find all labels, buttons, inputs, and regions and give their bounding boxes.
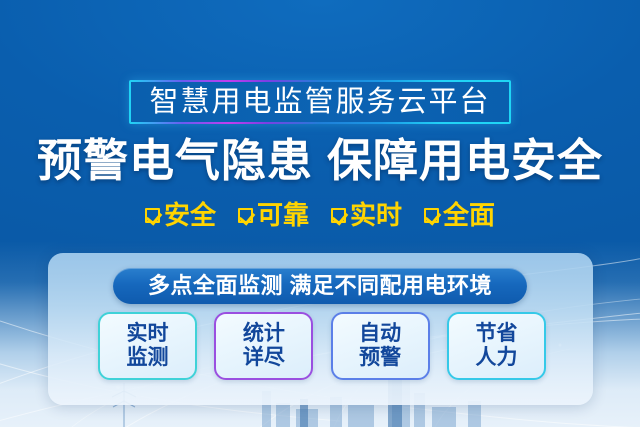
title-chip-inner: 智慧用电监管服务云平台 (131, 82, 509, 122)
feature-card-line1: 实时 (127, 322, 169, 346)
title-chip-text: 智慧用电监管服务云平台 (149, 88, 490, 117)
headline-part1: 预警电气隐患 (37, 138, 313, 183)
feature-card[interactable]: 统计 详尽 (214, 312, 313, 380)
headline-part2: 保障用电安全 (327, 138, 603, 183)
checkbox-checked-icon (145, 208, 160, 223)
feature-card-line2: 预警 (359, 346, 401, 370)
checklist-item: 实时 (331, 202, 402, 228)
feature-card-line1: 节省 (475, 322, 517, 346)
panel-banner: 多点全面监测 满足不同配用电环境 (113, 268, 527, 304)
feature-card[interactable]: 节省 人力 (447, 312, 546, 380)
feature-card-line2: 监测 (127, 346, 169, 370)
feature-card[interactable]: 自动 预警 (331, 312, 430, 380)
checkbox-checked-icon (424, 208, 439, 223)
feature-card[interactable]: 实时 监测 (98, 312, 197, 380)
poster-canvas: 智慧用电监管服务云平台 预警电气隐患 保障用电安全 安全 可靠 实时 全面 多点… (0, 0, 640, 427)
checklist-item: 安全 (145, 202, 216, 228)
checklist-item: 可靠 (238, 202, 309, 228)
feature-card-list: 实时 监测 统计 详尽 自动 预警 节省 人力 (98, 312, 546, 380)
checklist-item-label: 全面 (443, 202, 495, 228)
checkbox-checked-icon (331, 208, 346, 223)
headline: 预警电气隐患 保障用电安全 (0, 132, 640, 188)
feature-card-line2: 详尽 (243, 346, 285, 370)
feature-card-line2: 人力 (475, 346, 517, 370)
title-chip: 智慧用电监管服务云平台 (129, 80, 511, 124)
feature-card-line1: 统计 (243, 322, 285, 346)
checklist-item-label: 实时 (350, 202, 402, 228)
checklist-item: 全面 (424, 202, 495, 228)
feature-card-line1: 自动 (359, 322, 401, 346)
checklist-row: 安全 可靠 实时 全面 (0, 198, 640, 232)
checkbox-checked-icon (238, 208, 253, 223)
checklist-item-label: 可靠 (257, 202, 309, 228)
panel-banner-text: 多点全面监测 满足不同配用电环境 (148, 275, 492, 297)
checklist-item-label: 安全 (164, 202, 216, 228)
